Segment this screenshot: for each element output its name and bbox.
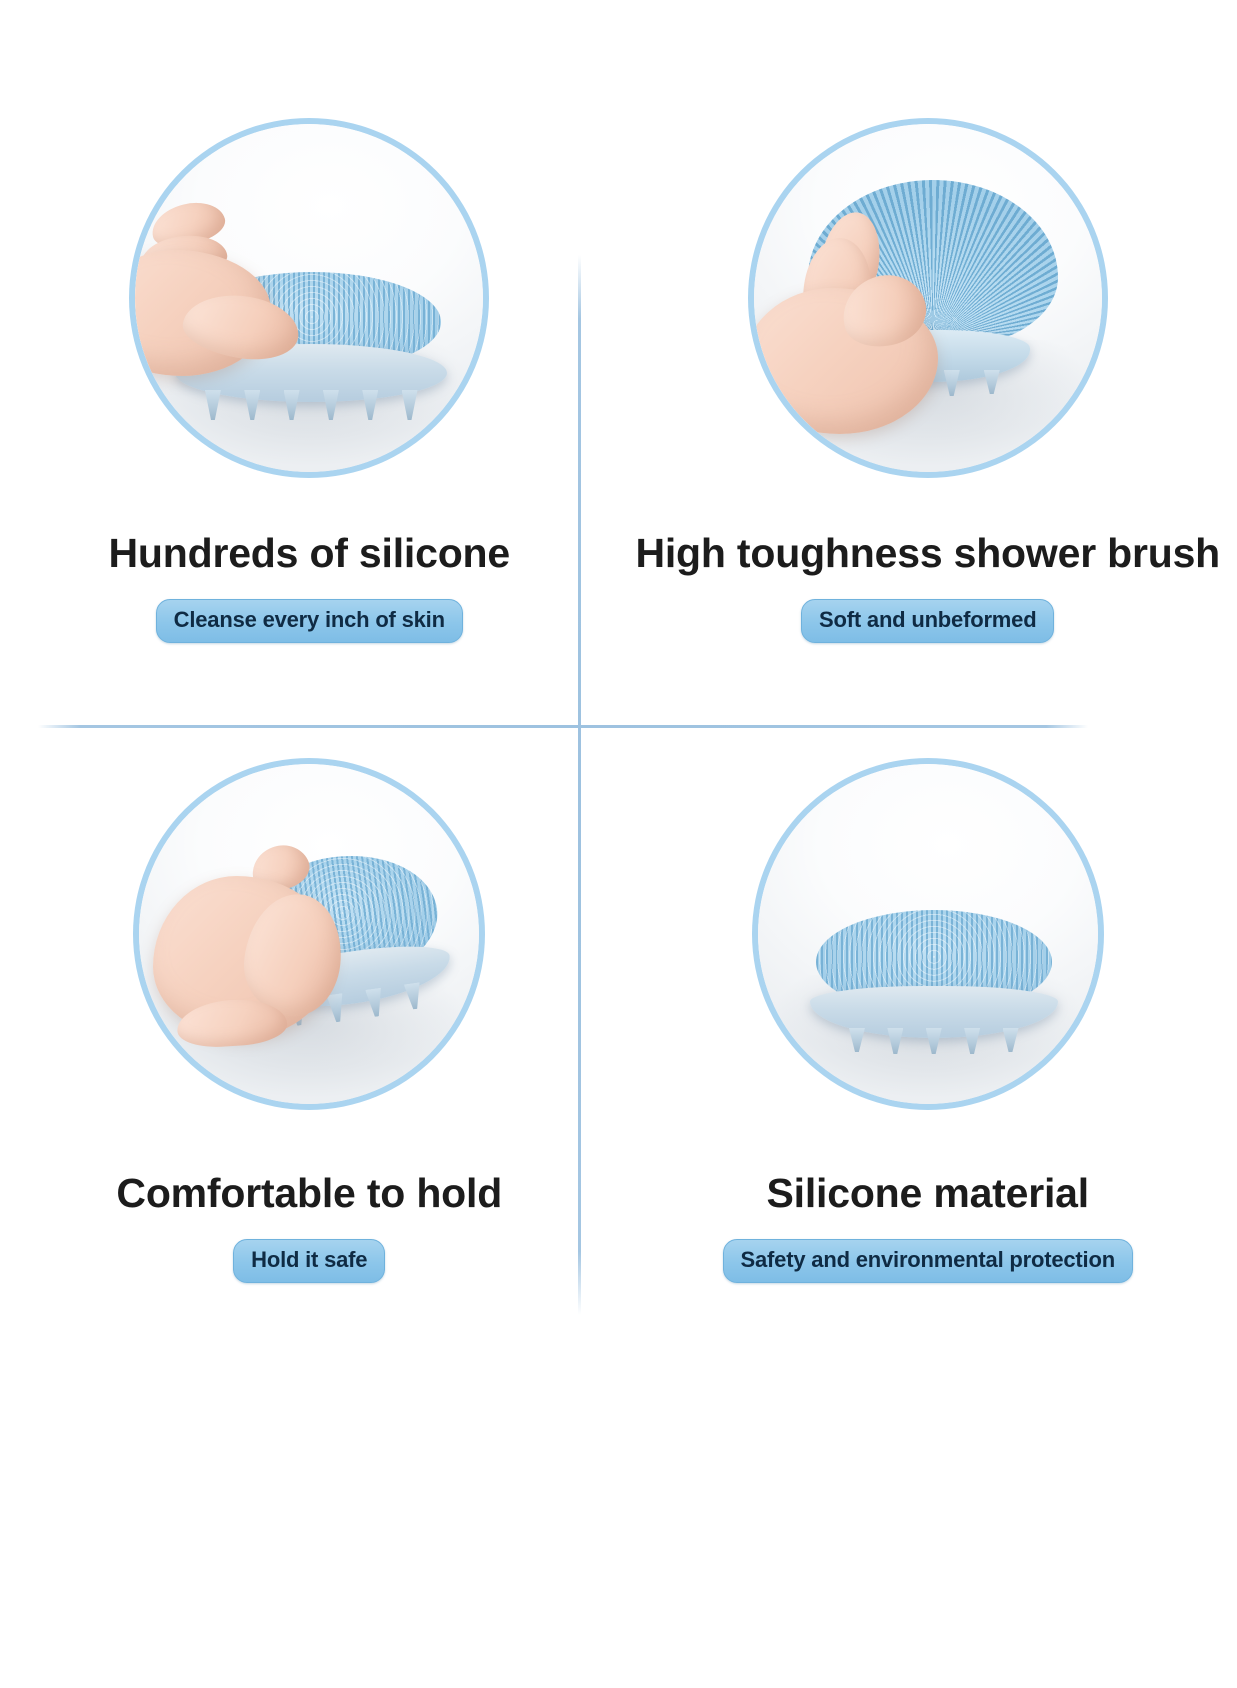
feature-badge: Hold it safe (233, 1239, 385, 1283)
feature-image-hundreds-of-silicone (135, 124, 483, 472)
feature-grid: Hundreds of silicone Cleanse every inch … (0, 0, 1237, 1400)
feature-image-high-toughness-shower-brush (754, 124, 1102, 472)
feature-badge: Safety and environmental protection (723, 1239, 1133, 1283)
feature-title: Hundreds of silicone (109, 530, 511, 577)
divider-vertical (578, 255, 581, 1315)
feature-card-hundreds-of-silicone: Hundreds of silicone Cleanse every inch … (0, 0, 619, 700)
feature-badge: Cleanse every inch of skin (156, 599, 463, 643)
feature-card-high-toughness-shower-brush: High toughness shower brush Soft and unb… (619, 0, 1237, 700)
feature-title: Silicone material (767, 1170, 1089, 1217)
feature-image-silicone-material (758, 764, 1098, 1104)
feature-card-silicone-material: Silicone material Safety and environment… (619, 700, 1237, 1400)
feature-title: High toughness shower brush (635, 530, 1220, 577)
feature-title: Comfortable to hold (116, 1170, 502, 1217)
divider-horizontal (38, 725, 1088, 728)
feature-card-comfortable-to-hold: Comfortable to hold Hold it safe (0, 700, 619, 1400)
feature-image-comfortable-to-hold (139, 764, 479, 1104)
feature-badge: Soft and unbeformed (801, 599, 1054, 643)
